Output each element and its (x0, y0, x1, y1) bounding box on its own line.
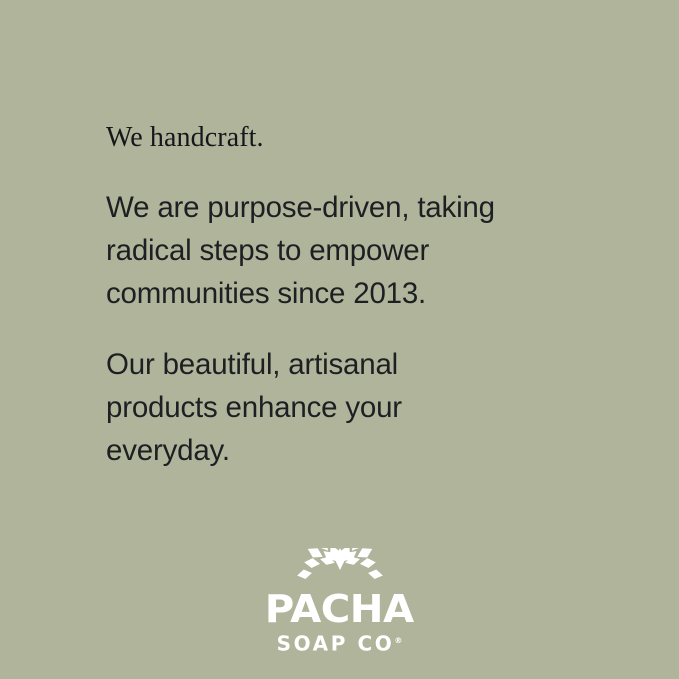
logo-wordmark: PACHA (265, 592, 414, 626)
paragraph-purpose: We are purpose-driven, taking radical st… (106, 186, 576, 315)
paragraph-line: products enhance your (106, 386, 576, 429)
copy-block: We handcraft. We are purpose-driven, tak… (106, 118, 576, 472)
paragraph-line: communities since 2013. (106, 272, 576, 315)
logo-subwordmark: SOAP CO® (277, 630, 403, 655)
paragraph-line: We are purpose-driven, taking (106, 186, 576, 229)
logo-subwordmark-text: SOAP CO (277, 632, 395, 656)
brand-statement-card: We handcraft. We are purpose-driven, tak… (0, 0, 679, 679)
paragraph-products: Our beautiful, artisanal products enhanc… (106, 343, 576, 472)
paragraph-line: everyday. (106, 429, 576, 472)
registered-trademark-icon: ® (394, 636, 402, 645)
page-title: We handcraft. (106, 118, 576, 158)
paragraph-line: radical steps to empower (106, 229, 576, 272)
paragraph-line: Our beautiful, artisanal (106, 343, 576, 386)
brand-logo: PACHA SOAP CO® (0, 548, 679, 655)
